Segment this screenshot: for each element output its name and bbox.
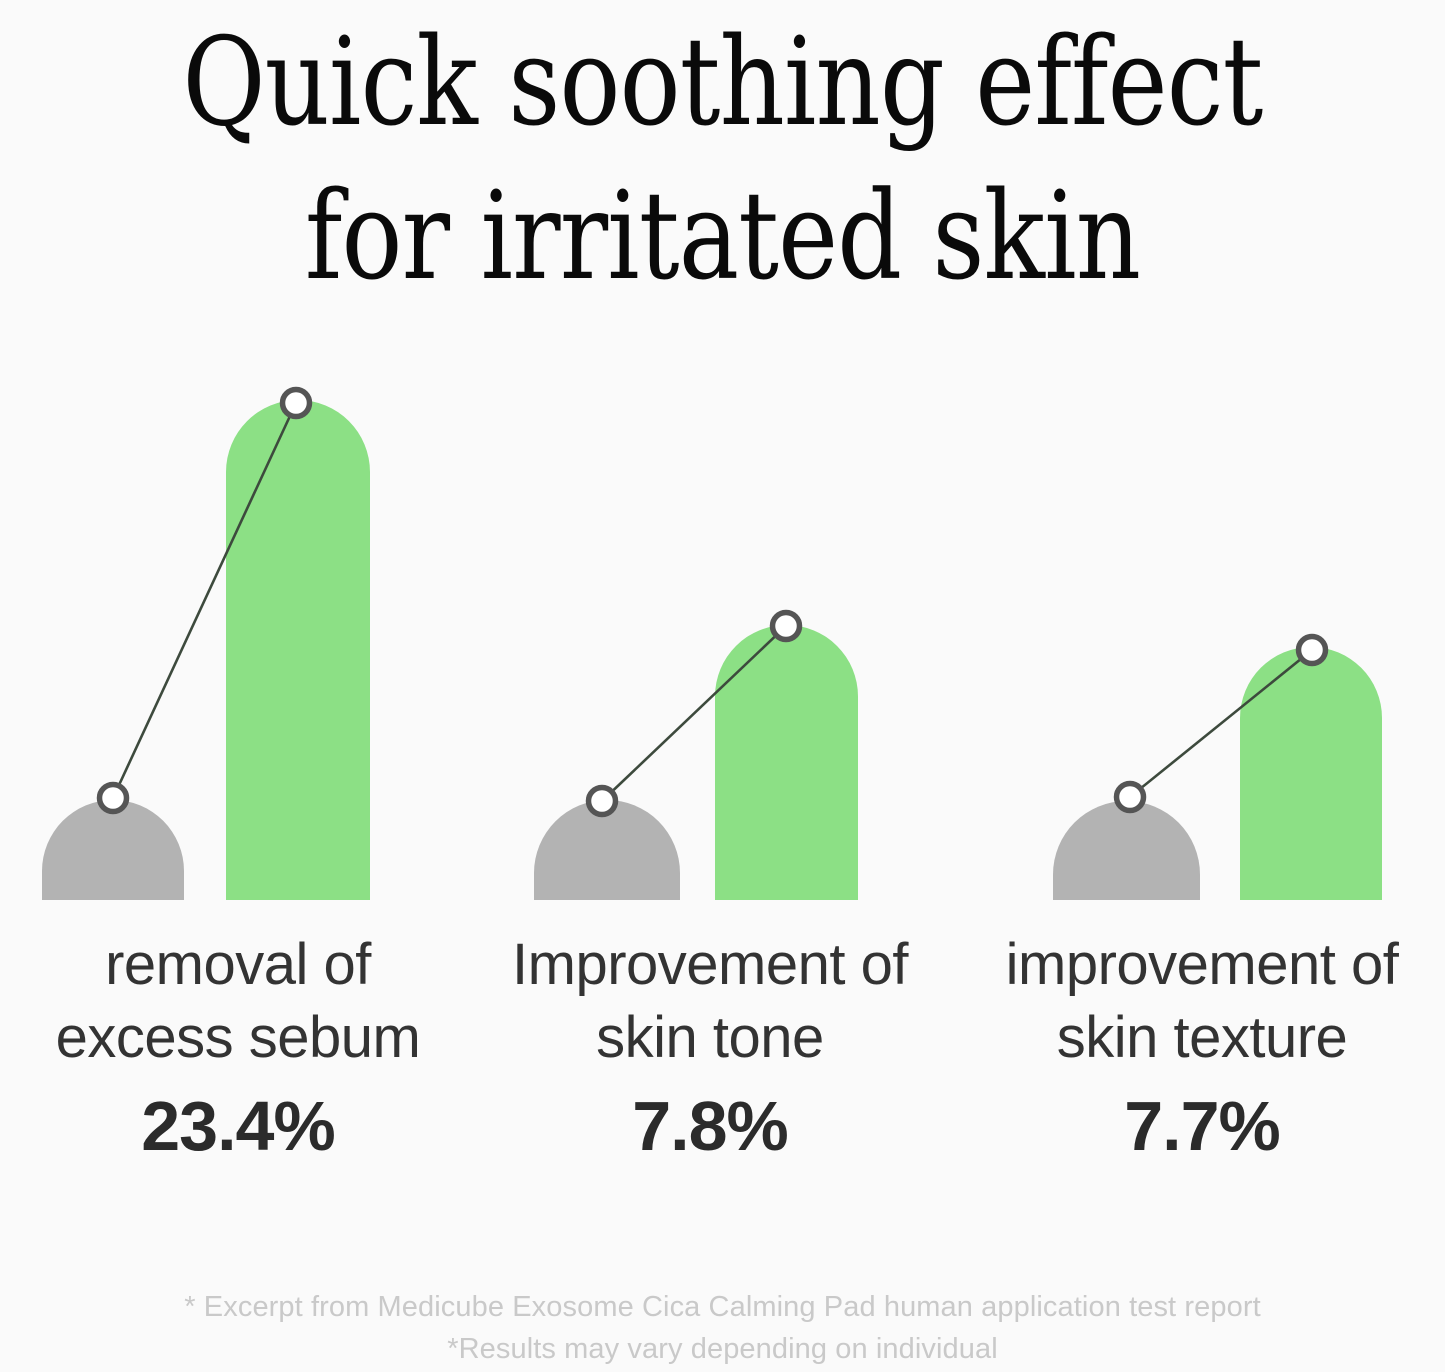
label-caption-3-line-1: improvement of	[962, 928, 1442, 1001]
after-marker-3	[1299, 637, 1326, 664]
label-caption-2-line-1: Improvement of	[470, 928, 950, 1001]
bar-chart	[0, 340, 1445, 920]
bar-group-improvement-of-skin-texture	[1053, 637, 1382, 901]
label-value-3: 7.7%	[962, 1088, 1442, 1165]
bar-group-improvement-of-skin-tone	[534, 613, 858, 901]
chart-labels: removal of excess sebum 23.4% Improvemen…	[0, 928, 1445, 1188]
page-title: Quick soothing effect for irritated skin	[0, 0, 1445, 313]
label-caption-2: Improvement of skin tone	[470, 928, 950, 1074]
label-group-1: removal of excess sebum 23.4%	[0, 928, 478, 1165]
after-marker-1	[283, 390, 310, 417]
label-caption-3: improvement of skin texture	[962, 928, 1442, 1074]
before-marker-2	[589, 788, 616, 815]
page-title-line-2: for irritated skin	[123, 160, 1322, 314]
infographic-root: Quick soothing effect for irritated skin	[0, 0, 1445, 1372]
after-bar-1	[226, 400, 370, 900]
footnote-line-2: *Results may vary depending on individua…	[0, 1328, 1445, 1370]
bar-chart-svg	[0, 340, 1445, 920]
page-title-line-1: Quick soothing effect	[123, 6, 1322, 160]
before-bar-1	[42, 800, 184, 900]
label-caption-1-line-1: removal of	[0, 928, 478, 1001]
before-marker-1	[100, 785, 127, 812]
label-group-2: Improvement of skin tone 7.8%	[470, 928, 950, 1165]
after-marker-2	[773, 613, 800, 640]
footnote-line-1: * Excerpt from Medicube Exosome Cica Cal…	[0, 1286, 1445, 1328]
before-marker-3	[1117, 784, 1144, 811]
footnote: * Excerpt from Medicube Exosome Cica Cal…	[0, 1286, 1445, 1370]
label-caption-3-line-2: skin texture	[962, 1001, 1442, 1074]
label-caption-2-line-2: skin tone	[470, 1001, 950, 1074]
after-bar-3	[1240, 647, 1382, 900]
before-bar-3	[1053, 801, 1200, 900]
label-group-3: improvement of skin texture 7.7%	[962, 928, 1442, 1165]
after-bar-2	[715, 625, 858, 900]
label-caption-1-line-2: excess sebum	[0, 1001, 478, 1074]
label-caption-1: removal of excess sebum	[0, 928, 478, 1074]
label-value-2: 7.8%	[470, 1088, 950, 1165]
label-value-1: 23.4%	[0, 1088, 478, 1165]
bar-group-removal-of-excess-sebum	[42, 390, 370, 901]
